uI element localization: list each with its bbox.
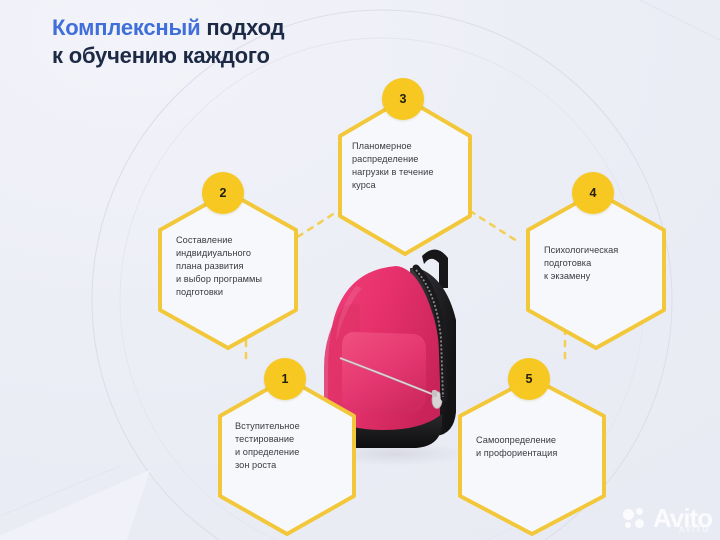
steps-group: Составление индвидиуального плана развит… [0, 0, 720, 540]
step-4-badge: 4 [572, 172, 614, 214]
page-title: Комплексный подход к обучению каждого [52, 14, 284, 70]
infographic-slide: Комплексный подход к обучению каждого Со… [0, 0, 720, 540]
step-3-text: Планомерное распределение нагрузки в теч… [352, 140, 470, 192]
step-5-badge: 5 [508, 358, 550, 400]
step-4-text: Психологическая подготовка к экзамену [544, 244, 664, 283]
avito-logo-icon [623, 508, 649, 530]
step-5-text: Самоопределение и профориентация [476, 434, 602, 460]
step-3-badge: 3 [382, 78, 424, 120]
title-accent-word: Комплексный [52, 15, 200, 40]
title-line-1-rest: подход [200, 15, 284, 40]
avito-wordmark-sub: AVITO [679, 525, 710, 534]
step-2-text: Составление индвидиуального плана развит… [176, 234, 294, 299]
avito-watermark: Avito AVITO [623, 505, 712, 532]
step-1-text: Вступительное тестирование и определение… [235, 420, 353, 472]
step-1-badge: 1 [264, 358, 306, 400]
title-line-1: Комплексный подход [52, 14, 284, 42]
title-line-2: к обучению каждого [52, 42, 284, 70]
step-2-badge: 2 [202, 172, 244, 214]
